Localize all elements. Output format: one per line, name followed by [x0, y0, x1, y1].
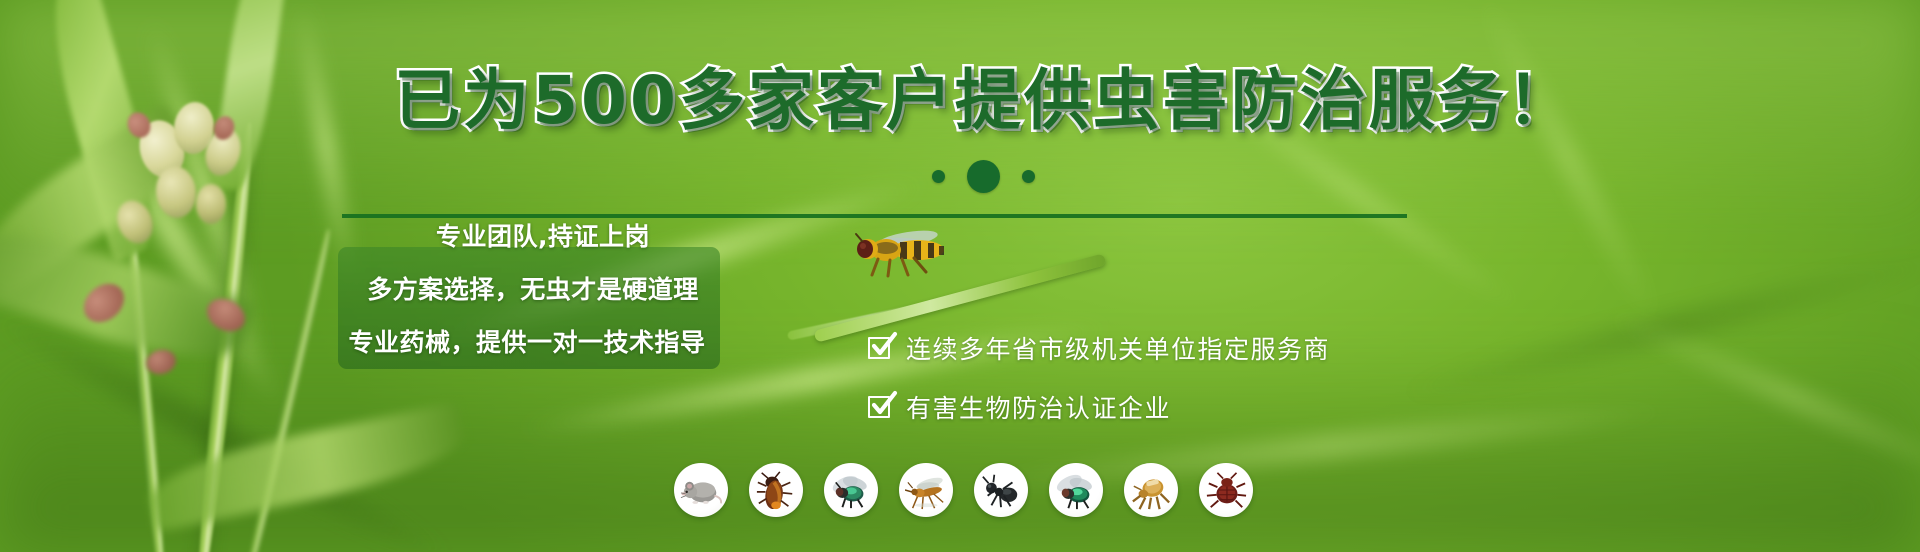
selling-points-panel: 专业团队,持证上岗 多方案选择，无虫才是硬道理 专业药械，提供一对一技术指导	[338, 247, 720, 369]
housefly-icon[interactable]	[824, 463, 878, 517]
checklist-item-label: 有害生物防治认证企业	[906, 389, 1171, 425]
mosquito-icon[interactable]	[899, 463, 953, 517]
checklist-item-label: 连续多年省市级机关单位指定服务商	[906, 330, 1330, 366]
decorative-dot-small-right	[1022, 170, 1035, 183]
panel-line-2: 多方案选择，无虫才是硬道理	[342, 270, 724, 306]
pest-control-banner: 已为500多家客户提供虫害防治服务！	[0, 0, 1920, 552]
banner-headline-text: 已为500多家客户提供虫害防治服务！	[394, 68, 1576, 134]
decorative-dot-small-left	[932, 170, 945, 183]
flea-icon[interactable]	[1124, 463, 1178, 517]
checklist-item: 连续多年省市级机关单位指定服务商	[868, 330, 1508, 366]
decorative-dot-large	[967, 160, 1000, 193]
decorative-dots	[0, 160, 1920, 193]
checklist-item: 有害生物防治认证企业	[868, 389, 1508, 425]
ant-icon[interactable]	[974, 463, 1028, 517]
cockroach-icon[interactable]	[749, 463, 803, 517]
panel-line-1: 专业团队,持证上岗	[352, 217, 734, 253]
mouse-icon[interactable]	[674, 463, 728, 517]
banner-headline: 已为500多家客户提供虫害防治服务！	[0, 68, 1920, 134]
bedbug-icon[interactable]	[1199, 463, 1253, 517]
checkbox-checked-icon	[868, 395, 892, 419]
pest-icon-strip	[674, 463, 1253, 517]
checkbox-checked-icon	[868, 336, 892, 360]
panel-line-3: 专业药械，提供一对一技术指导	[336, 323, 718, 359]
credentials-checklist: 连续多年省市级机关单位指定服务商 有害生物防治认证企业	[868, 330, 1508, 448]
greenbottle-fly-icon[interactable]	[1049, 463, 1103, 517]
hoverfly-icon	[848, 226, 956, 280]
